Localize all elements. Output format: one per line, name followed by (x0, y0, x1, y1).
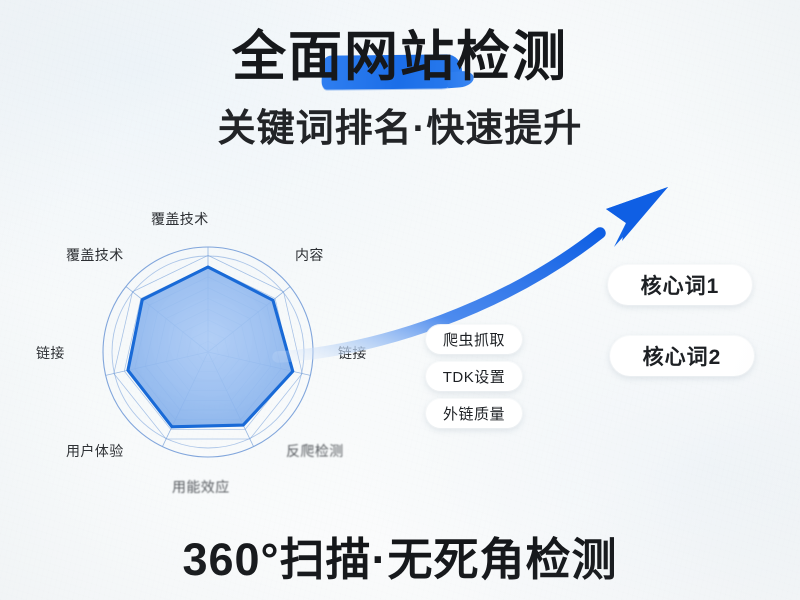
pill-crawl[interactable]: 爬虫抓取 (426, 325, 522, 354)
page-title: 全面网站检测 (232, 28, 568, 86)
pill-keyword-1-label: 核心词1 (641, 270, 720, 300)
pill-crawl-label: 爬虫抓取 (443, 329, 505, 350)
radar-label-bottom: 用能效应 (172, 477, 230, 497)
page-title-text: 全面网站检测 (232, 27, 568, 87)
radar-label-bottom-right: 反爬检测 (286, 441, 344, 461)
footer-headline: 360°扫描·无死角检测 (0, 523, 800, 588)
pill-keyword-2[interactable]: 核心词2 (610, 336, 754, 376)
poster-canvas: 全面网站检测 关键词排名·快速提升 (0, 0, 800, 600)
page-subtitle: 关键词排名·快速提升 (0, 97, 800, 152)
radar-label-bottom-left: 用户体验 (66, 441, 124, 461)
pill-backlink[interactable]: 外链质量 (426, 399, 522, 428)
headline-block: 全面网站检测 关键词排名·快速提升 (0, 28, 800, 152)
pill-keyword-2-label: 核心词2 (643, 341, 722, 371)
pill-tdk[interactable]: TDK设置 (426, 362, 522, 391)
radar-label-top: 覆盖技术 (151, 209, 209, 229)
radar-label-right: 链接 (338, 343, 367, 363)
radar-label-top-left: 覆盖技术 (66, 245, 124, 265)
pill-backlink-label: 外链质量 (443, 403, 505, 424)
radar-series (128, 267, 293, 427)
radar-label-left: 链接 (36, 343, 65, 363)
radar-label-top-right: 内容 (295, 245, 324, 265)
pill-keyword-1[interactable]: 核心词1 (608, 265, 752, 305)
radar-chart: 覆盖技术 内容 链接 反爬检测 用能效应 用户体验 覆盖技术 链接 (58, 195, 388, 505)
pill-tdk-label: TDK设置 (443, 366, 506, 387)
